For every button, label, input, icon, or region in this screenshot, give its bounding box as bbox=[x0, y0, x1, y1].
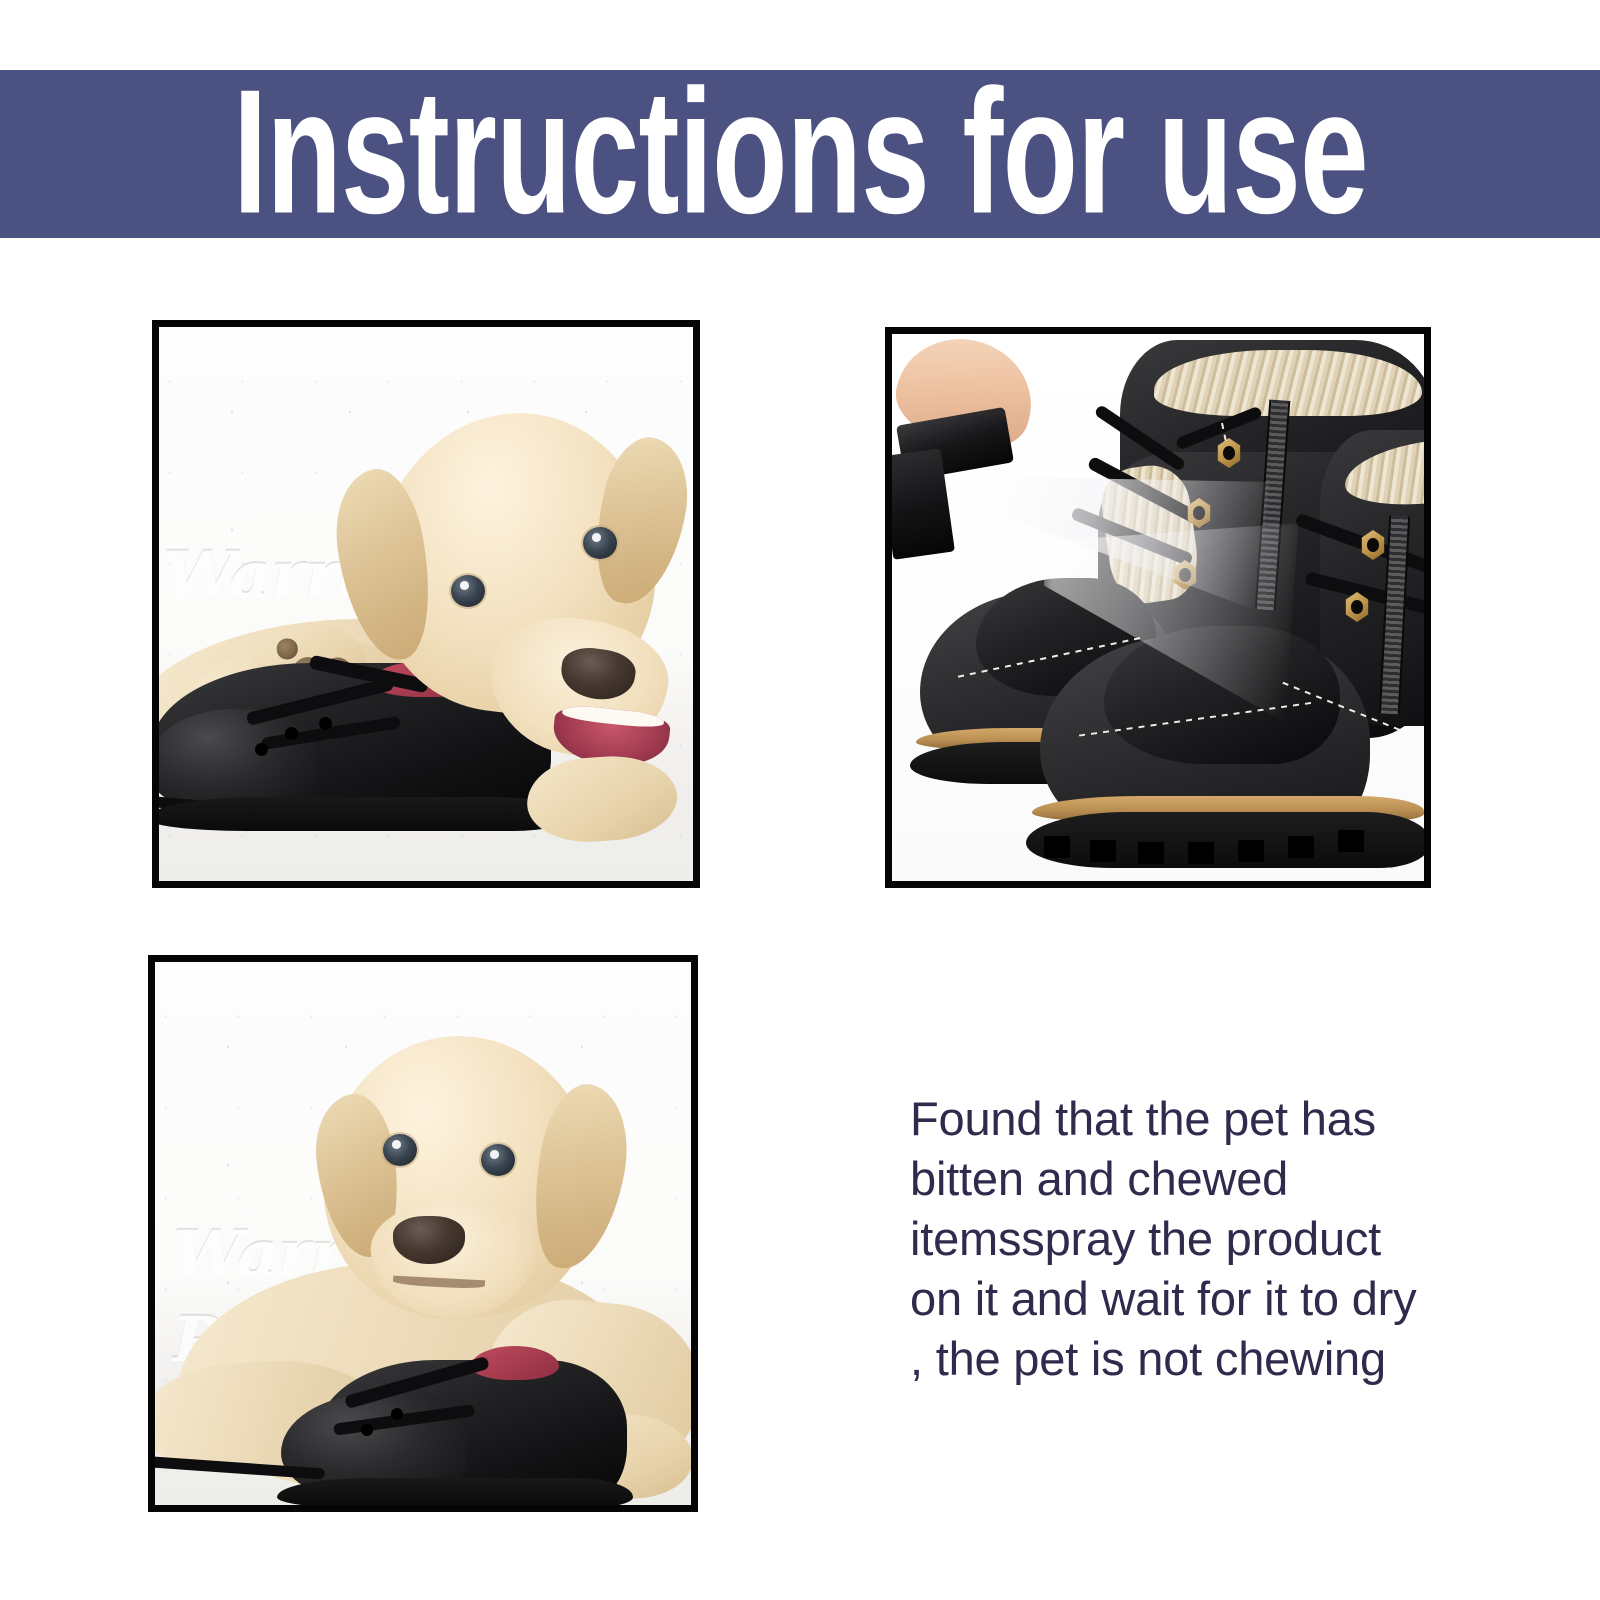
shoe-sole bbox=[159, 797, 567, 831]
scene-spray-boot bbox=[892, 334, 1424, 881]
shoe-eyelet bbox=[391, 1408, 403, 1420]
boot-main-outsole bbox=[1026, 812, 1424, 868]
photo-panel-puppy-not-chewing: Warren Photographic bbox=[148, 955, 698, 1512]
puppy-eye-right bbox=[583, 527, 617, 559]
page-title: Instructions for use bbox=[233, 70, 1368, 238]
photo-panel-spray-boot bbox=[885, 327, 1431, 888]
puppy-eye-right bbox=[481, 1144, 515, 1176]
instruction-paragraph: Found that the pet has bitten and chewed… bbox=[910, 1089, 1422, 1389]
shoe-toe-cap bbox=[159, 709, 317, 811]
shoe-eyelet bbox=[255, 743, 268, 756]
puppy-eye-left bbox=[451, 575, 485, 607]
scene-puppy-not-chewing: Warren Photographic bbox=[155, 962, 691, 1505]
puppy-eye-left bbox=[383, 1134, 417, 1166]
title-banner: Instructions for use bbox=[0, 70, 1600, 238]
shoe-sole bbox=[277, 1478, 633, 1505]
shoe-eyelet bbox=[319, 717, 332, 730]
shoe-eyelet bbox=[285, 727, 298, 740]
shoe-eyelet bbox=[361, 1424, 373, 1436]
photo-panel-puppy-chewing: Warren bbox=[152, 320, 700, 888]
scene-puppy-chewing: Warren bbox=[159, 327, 693, 881]
